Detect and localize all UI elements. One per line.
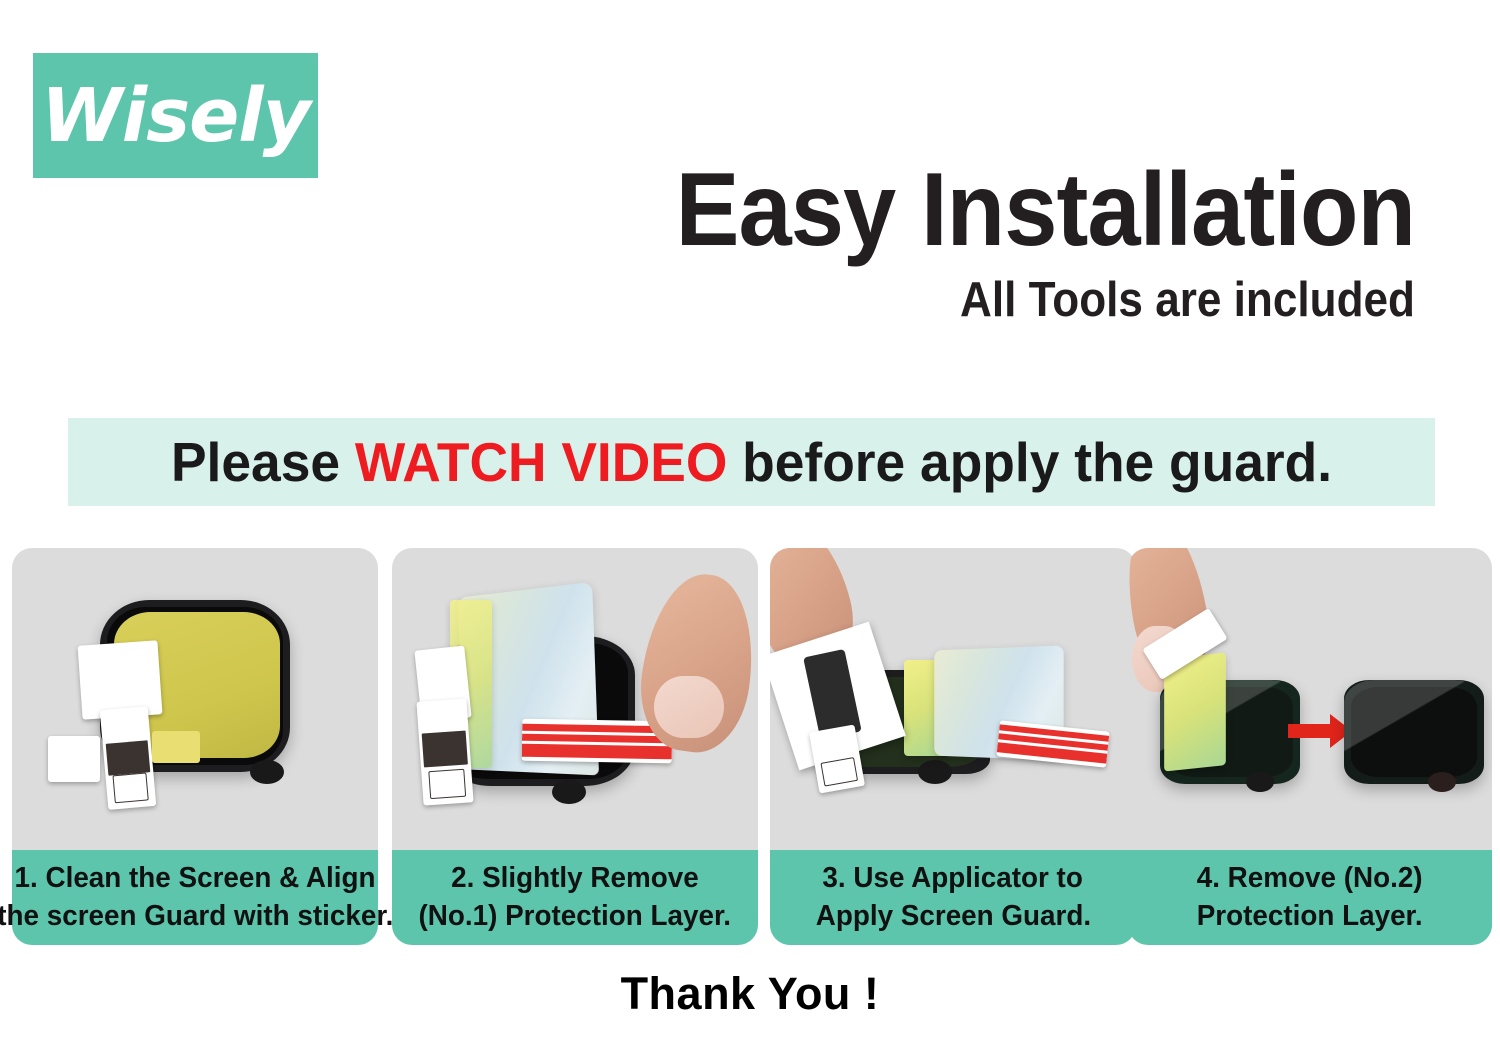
banner-suffix: before apply the guard. (727, 431, 1332, 493)
alignment-sticker-front (100, 706, 157, 810)
step-4-caption-line-2: Protection Layer. (1197, 898, 1423, 935)
fingernail (654, 676, 724, 738)
step-card-1: 1. Clean the Screen & Align the screen G… (12, 548, 378, 945)
alignment-sticker-front (416, 698, 473, 805)
step-2-photo (392, 548, 758, 850)
watch-body-right (1344, 680, 1484, 784)
header-block: Easy Installation All Tools are included (360, 160, 1415, 328)
banner-highlight: WATCH VIDEO (355, 431, 727, 493)
sticker-dark-bar (106, 740, 151, 776)
sticker-dark-bar (422, 731, 468, 768)
watch-crown (918, 760, 952, 784)
yellow-tab (152, 731, 200, 763)
sticker-diagram-icon (820, 757, 858, 787)
sticker-diagram-icon (112, 772, 148, 803)
step-2-caption: 2. Slightly Remove (No.1) Protection Lay… (392, 850, 758, 945)
page-title: Easy Installation (444, 160, 1415, 262)
back-label (996, 720, 1109, 767)
banner-prefix: Please (171, 431, 355, 493)
step-1-photo (12, 548, 378, 850)
brand-logo: Wisely (33, 53, 318, 178)
thank-you-text: Thank You ! (0, 968, 1500, 1020)
banner-text: Please WATCH VIDEO before apply the guar… (171, 430, 1332, 494)
step-3-caption-line-1: 3. Use Applicator to (823, 860, 1083, 897)
watch-crown (250, 760, 284, 784)
watch-video-banner: Please WATCH VIDEO before apply the guar… (68, 418, 1435, 506)
watch-crown-right (1428, 772, 1456, 792)
step-card-2: 2. Slightly Remove (No.1) Protection Lay… (392, 548, 758, 945)
step-1-caption: 1. Clean the Screen & Align the screen G… (12, 850, 378, 945)
progress-arrow-icon (1288, 724, 1332, 738)
installation-steps: 1. Clean the Screen & Align the screen G… (0, 548, 1500, 948)
page-subtitle: All Tools are included (466, 274, 1416, 328)
step-4-caption-line-1: 4. Remove (No.2) (1197, 860, 1423, 897)
watch-crown-left (1246, 772, 1274, 792)
step-3-caption: 3. Use Applicator to Apply Screen Guard. (770, 850, 1136, 945)
step-4-caption: 4. Remove (No.2) Protection Layer. (1128, 850, 1492, 945)
step-1-caption-line-1: 1. Clean the Screen & Align (15, 860, 376, 897)
watch-crown (552, 780, 586, 804)
step-1-caption-line-2: the screen Guard with sticker. (0, 898, 393, 935)
step-3-photo (770, 548, 1136, 850)
step-card-3: 3. Use Applicator to Apply Screen Guard. (770, 548, 1136, 945)
back-label-stripe-2 (522, 734, 672, 744)
back-label-text-band (522, 744, 672, 760)
step-3-caption-line-2: Apply Screen Guard. (815, 898, 1090, 935)
step-card-4: 4. Remove (No.2) Protection Layer. (1128, 548, 1492, 945)
step-2-caption-line-1: 2. Slightly Remove (451, 860, 699, 897)
step-2-caption-line-2: (No.1) Protection Layer. (419, 898, 731, 935)
alignment-sticker-tab (48, 736, 100, 782)
step-4-photo (1128, 548, 1492, 850)
sticker-diagram-icon (428, 769, 466, 799)
brand-logo-text: Wisely (41, 79, 310, 153)
screen-glare (1344, 680, 1484, 784)
